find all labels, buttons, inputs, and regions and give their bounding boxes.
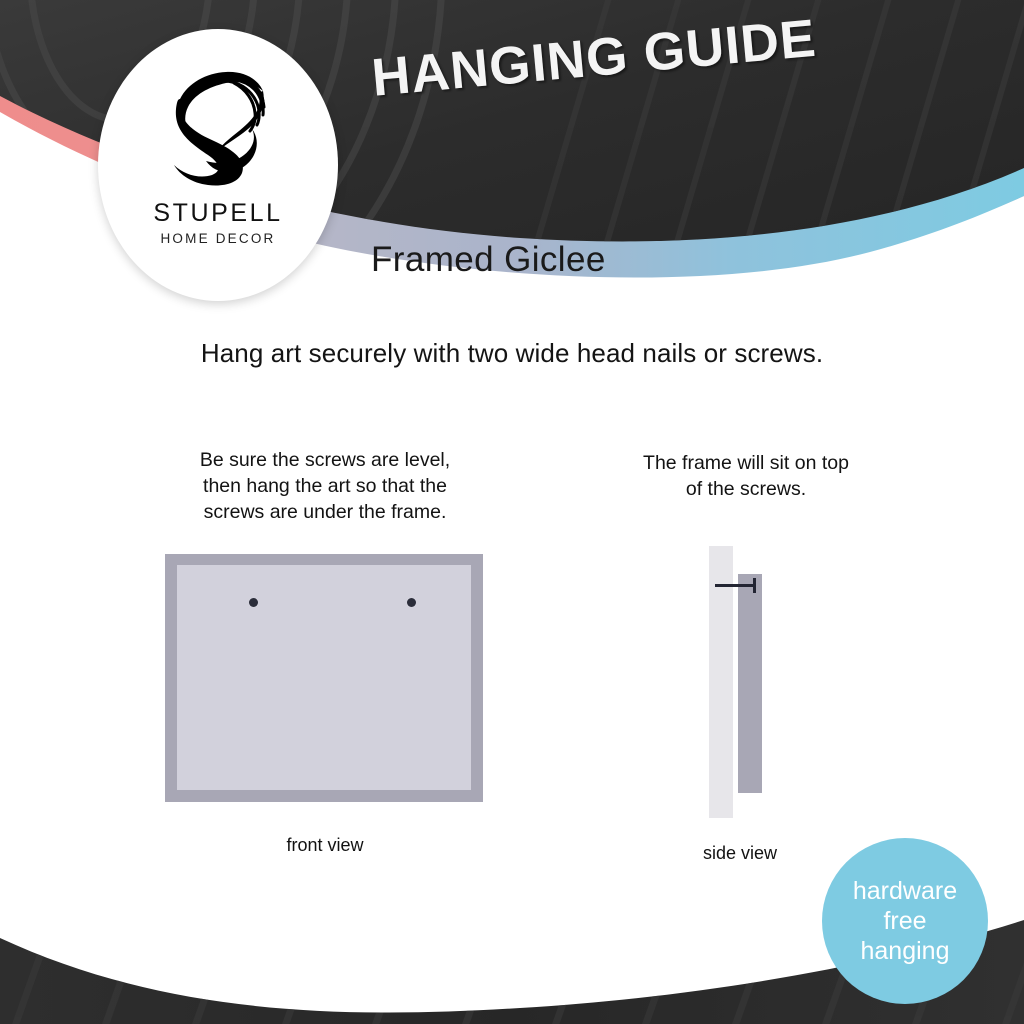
front-view-mat — [177, 565, 471, 790]
hanging-guide-page: HANGING GUIDE STUPELL HOME DECOR Framed … — [0, 0, 1024, 1024]
side-view-label: side view — [630, 843, 850, 864]
front-view-diagram — [165, 554, 483, 802]
side-view-caption: The frame will sit on top of the screws. — [598, 450, 894, 502]
front-view-caption-line-1: Be sure the screws are level, — [145, 447, 505, 473]
front-view-caption: Be sure the screws are level, then hang … — [145, 447, 505, 525]
side-view-caption-line-1: The frame will sit on top — [598, 450, 894, 476]
badge-line-1: hardware — [853, 876, 957, 906]
blue-accent-band — [250, 152, 1024, 278]
side-view-caption-line-2: of the screws. — [598, 476, 894, 502]
logo-subwordmark: HOME DECOR — [160, 231, 275, 246]
main-instruction-text: Hang art securely with two wide head nai… — [0, 338, 1024, 369]
nail-head-icon — [753, 578, 756, 593]
screw-dot-left-icon — [249, 598, 258, 607]
stupell-swan-swirl-icon — [162, 61, 274, 189]
logo-wordmark: STUPELL — [153, 199, 282, 228]
screw-dot-right-icon — [407, 598, 416, 607]
front-view-caption-line-3: screws are under the frame. — [145, 499, 505, 525]
product-type-heading: Framed Giclee — [371, 240, 606, 280]
side-view-diagram — [709, 546, 779, 818]
hardware-free-hanging-badge: hardware free hanging — [822, 838, 988, 1004]
brand-logo-badge: STUPELL HOME DECOR — [98, 29, 338, 301]
badge-line-3: hanging — [861, 936, 950, 966]
page-title: HANGING GUIDE — [369, 1, 892, 109]
nail-shaft-icon — [715, 584, 755, 587]
badge-line-2: free — [883, 906, 926, 936]
front-view-label: front view — [180, 835, 470, 856]
side-view-frame — [738, 574, 762, 793]
front-view-caption-line-2: then hang the art so that the — [145, 473, 505, 499]
